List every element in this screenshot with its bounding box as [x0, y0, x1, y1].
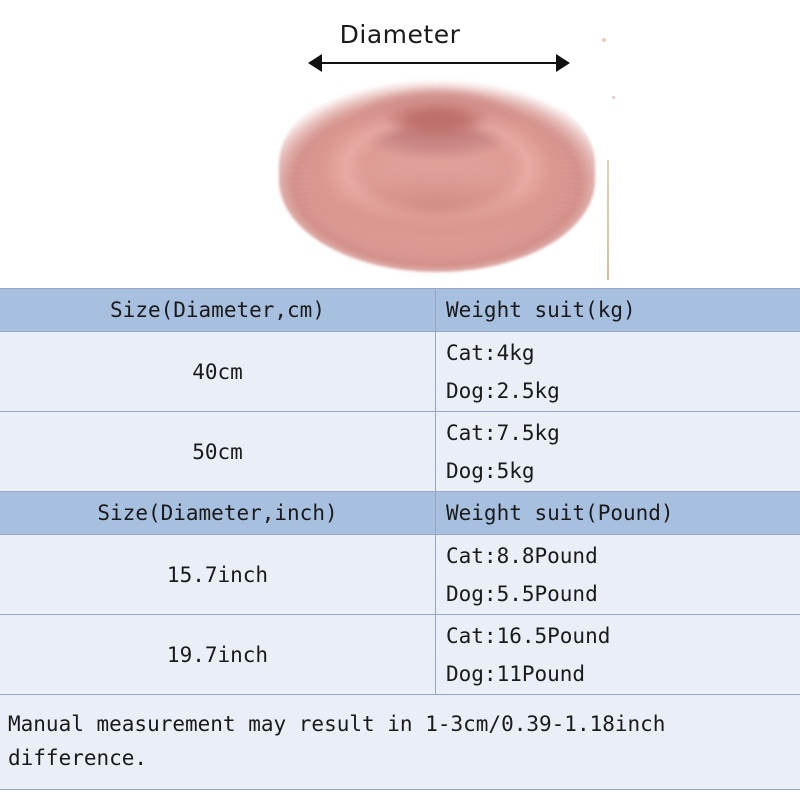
measurement-note: Manual measurement may result in 1-3cm/0…	[0, 695, 800, 790]
cell-weight-cat: Cat:8.8Pound	[446, 537, 598, 575]
dust-speck-icon	[602, 38, 606, 42]
header-weight-imperial: Weight suit(Pound)	[436, 492, 800, 534]
header-weight-metric: Weight suit(kg)	[436, 289, 800, 331]
cell-weight: Cat:7.5kg Dog:5kg	[436, 412, 800, 491]
stray-fiber	[607, 160, 609, 280]
table-row: 40cm Cat:4kg Dog:2.5kg	[0, 332, 800, 412]
cell-weight-dog: Dog:11Pound	[446, 655, 585, 693]
arrow-right-icon	[556, 54, 570, 72]
table-header-row-metric: Size(Diameter,cm) Weight suit(kg)	[0, 289, 800, 332]
product-size-chart: Diameter Size(Diameter,cm) Weight suit(k…	[0, 0, 800, 800]
header-size-imperial: Size(Diameter,inch)	[0, 492, 436, 534]
cell-size: 19.7inch	[0, 615, 436, 694]
pet-bed-image	[279, 72, 595, 272]
table-row: 19.7inch Cat:16.5Pound Dog:11Pound	[0, 615, 800, 695]
cell-weight-cat: Cat:4kg	[446, 334, 535, 372]
table-header-row-imperial: Size(Diameter,inch) Weight suit(Pound)	[0, 492, 800, 535]
table-row: 50cm Cat:7.5kg Dog:5kg	[0, 412, 800, 492]
cell-weight: Cat:16.5Pound Dog:11Pound	[436, 615, 800, 694]
cell-weight: Cat:8.8Pound Dog:5.5Pound	[436, 535, 800, 614]
cell-weight-cat: Cat:7.5kg	[446, 414, 560, 452]
cell-weight-dog: Dog:5.5Pound	[446, 575, 598, 613]
cell-weight: Cat:4kg Dog:2.5kg	[436, 332, 800, 411]
arrow-line	[318, 62, 560, 64]
cell-weight-cat: Cat:16.5Pound	[446, 617, 610, 655]
cell-size: 40cm	[0, 332, 436, 411]
pet-bed-inner-hollow	[374, 100, 500, 144]
diameter-label: Diameter	[0, 20, 800, 49]
cell-size: 15.7inch	[0, 535, 436, 614]
table-row: 15.7inch Cat:8.8Pound Dog:5.5Pound	[0, 535, 800, 615]
pet-bed-shadow	[304, 164, 569, 260]
cell-weight-dog: Dog:2.5kg	[446, 372, 560, 410]
size-table: Size(Diameter,cm) Weight suit(kg) 40cm C…	[0, 288, 800, 790]
cell-size: 50cm	[0, 412, 436, 491]
dust-speck-icon	[612, 96, 615, 99]
product-image-area: Diameter	[0, 0, 800, 288]
cell-weight-dog: Dog:5kg	[446, 452, 535, 490]
header-size-metric: Size(Diameter,cm)	[0, 289, 436, 331]
